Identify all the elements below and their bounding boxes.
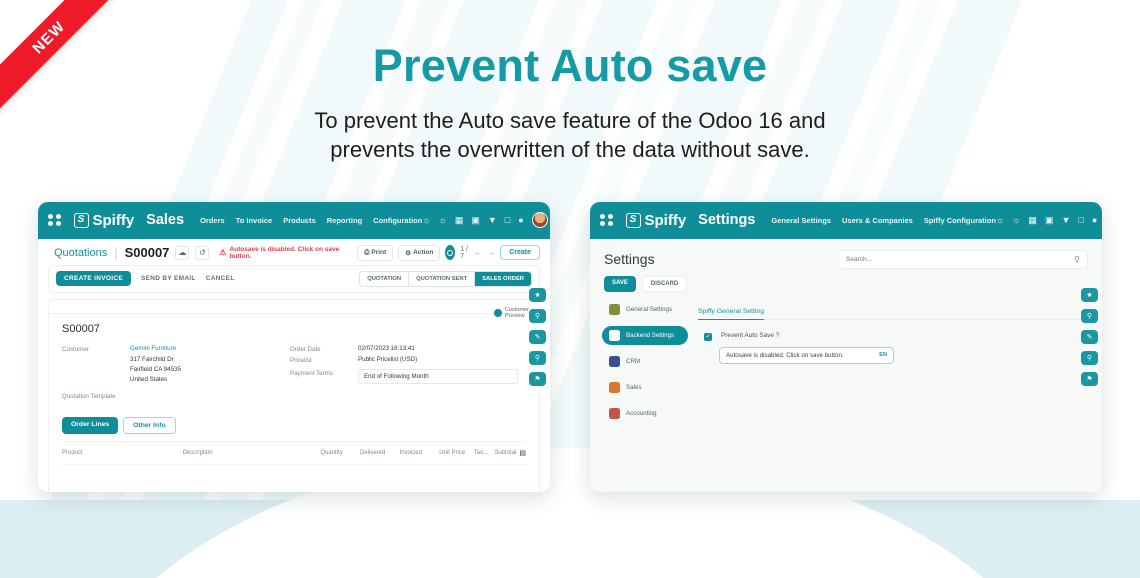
brand-logo[interactable]: S Spiffy (626, 212, 687, 229)
messages-icon[interactable]: ☼ (422, 216, 430, 225)
sheet-notebook-tabs: Order Lines Other Info (62, 417, 526, 434)
customer-preview-line-1: Customer (505, 307, 529, 313)
spiffy-s-icon (609, 330, 620, 341)
brand-logo[interactable]: S Spiffy (74, 212, 135, 229)
field-pricelist: Pricelist Public Pricelist (USD) (290, 356, 526, 364)
field-label-payment-terms: Payment Terms (290, 369, 358, 384)
settings-sidebar: General Settings Backend Settings CRM Sa… (590, 300, 688, 423)
autosave-warning: ⚠ Autosave is disabled. Click on save bu… (219, 246, 351, 260)
menu-item-spiffy-configuration[interactable]: Spiffy Configuration (924, 216, 996, 225)
arrow-right-icon[interactable]: → (487, 248, 495, 257)
print-icon[interactable]: ▦ (1028, 216, 1037, 225)
sales-navbar: S Spiffy Sales Orders To Invoice Product… (38, 202, 550, 239)
menu-item-users-companies[interactable]: Users & Companies (842, 216, 913, 225)
messages-icon[interactable]: ☼ (996, 216, 1004, 225)
user-avatar[interactable] (532, 212, 548, 228)
gear-icon: ⚙ (405, 249, 411, 257)
record-pager: 1 / 7 (460, 246, 469, 260)
field-value-pricelist[interactable]: Public Pricelist (USD) (358, 356, 417, 364)
activities-icon[interactable]: ☼ (439, 216, 447, 225)
field-customer: Customer Gemini Furniture (62, 345, 290, 353)
stage-selector: QUOTATION QUOTATION SENT SALES ORDER (359, 271, 532, 287)
form-left-column: Customer Gemini Furniture 317 Fairchild … (62, 345, 290, 403)
order-lines-empty-body (62, 464, 526, 492)
column-header-quantity: Quantity (320, 450, 360, 456)
autosave-message-input[interactable]: Autosave is disabled. Click on save butt… (719, 347, 894, 364)
field-payment-terms: Payment Terms End of Following Month (290, 369, 526, 384)
customer-preview-label: Customer Preview (505, 307, 529, 321)
field-value-country: United States (130, 376, 167, 383)
stage-quotation-sent[interactable]: QUOTATION SENT (409, 272, 475, 286)
field-order-date: Order Date 02/07/2023 16:13:41 (290, 345, 526, 353)
create-button[interactable]: Create (500, 245, 540, 260)
language-badge[interactable]: EN (879, 352, 887, 358)
settings-action-buttons: SAVE DISCARD (590, 269, 1102, 300)
location-icon[interactable]: ● (1092, 216, 1097, 225)
checkbox-checked-icon[interactable]: ✓ (704, 333, 712, 341)
app-name-label: Settings (698, 212, 755, 228)
tab-other-info[interactable]: Other Info (123, 417, 175, 434)
field-address-line-2: Fairfield CA 94535 (62, 366, 290, 373)
field-label-order-date: Order Date (290, 345, 358, 353)
column-header-taxes: Tax... (474, 450, 495, 456)
sales-icon (609, 382, 620, 393)
field-label-customer: Customer (62, 345, 130, 353)
order-lines-table-header: Product Description Quantity Delivered I… (62, 441, 526, 464)
search-icon[interactable]: ⚲ (1074, 255, 1080, 264)
settings-main: General Settings Backend Settings CRM Sa… (590, 300, 1102, 423)
screenshot-row: S Spiffy Sales Orders To Invoice Product… (0, 202, 1140, 492)
sidebar-label-general-settings: General Settings (626, 306, 672, 313)
send-by-email-button[interactable]: SEND BY EMAIL (141, 275, 196, 282)
field-label-quotation-template: Quotation Template (62, 392, 116, 400)
customer-preview-button[interactable]: Customer Preview (494, 307, 529, 321)
bug-icon[interactable]: ▼ (488, 216, 497, 225)
menu-item-to-invoice[interactable]: To Invoice (236, 216, 273, 225)
search-icon[interactable]: ⚲ (529, 309, 546, 323)
bookmark-icon[interactable]: ⚑ (529, 372, 546, 386)
settings-menu-bar: General Settings Users & Companies Spiff… (771, 216, 996, 225)
sidebar-item-sales[interactable]: Sales (602, 378, 688, 397)
field-value-city: Fairfield CA 94535 (130, 366, 181, 373)
sidebar-label-accounting: Accounting (626, 410, 657, 417)
stage-sales-order[interactable]: SALES ORDER (475, 272, 531, 286)
brand-label: Spiffy (645, 212, 687, 229)
field-address-line-3: United States (62, 376, 290, 383)
save-cloud-icon[interactable]: ☁ (175, 246, 189, 260)
settings-side-toolbar: ★ ⚲ ✎ ⚲ ⚑ (1081, 288, 1098, 386)
field-label-pricelist: Pricelist (290, 356, 358, 364)
column-header-unit-price: Unit Price (439, 450, 473, 456)
breadcrumb-current: S00007 (125, 245, 170, 260)
search-icon[interactable]: ⚲ (1081, 309, 1098, 323)
customer-preview-line-2: Preview (505, 313, 525, 319)
globe-icon (494, 309, 502, 317)
note-icon[interactable]: □ (1078, 216, 1083, 225)
bug-icon[interactable]: ▼ (1061, 216, 1070, 225)
sidebar-label-sales: Sales (626, 384, 641, 391)
new-ribbon: NEW (0, 0, 150, 150)
column-header-subtotal: Subtotal (494, 450, 516, 456)
field-label-blank-1 (62, 356, 130, 363)
brand-label: Spiffy (93, 212, 135, 229)
form-fields: Customer Gemini Furniture 317 Fairchild … (62, 345, 526, 403)
settings-header: Settings ⚲ (590, 239, 1102, 269)
print-button[interactable]: ⎙ Print (357, 245, 393, 261)
record-title: S00007 (62, 323, 526, 335)
page-subtitle: To prevent the Auto save feature of the … (0, 106, 1140, 165)
search-input[interactable] (846, 256, 1070, 263)
sidebar-label-crm: CRM (626, 358, 640, 365)
control-panel-actions: ⎙ Print ⚙ Action 1 / 7 ← → Create (357, 245, 540, 261)
field-quotation-template: Quotation Template (62, 392, 290, 400)
sidebar-item-crm[interactable]: CRM (602, 352, 688, 371)
edit-pencil-icon[interactable]: ✎ (529, 330, 546, 344)
field-label-blank-2 (62, 366, 130, 373)
prevent-auto-save-label: Prevent Auto Save ? (721, 332, 779, 339)
tab-order-lines[interactable]: Order Lines (62, 417, 118, 434)
menu-item-configuration[interactable]: Configuration (373, 216, 422, 225)
column-header-subtotal-group: Subtotal ▤ (494, 449, 526, 457)
headline-block: Prevent Auto save To prevent the Auto sa… (0, 0, 1140, 165)
section-tab-spiffy-general-setting[interactable]: Spiffy General Setting (698, 308, 764, 320)
menu-item-general-settings[interactable]: General Settings (771, 216, 831, 225)
bookmark-icon[interactable]: ⚑ (1081, 372, 1098, 386)
sales-control-panel: Quotations | S00007 ☁ ↺ ⚠ Autosave is di… (38, 239, 550, 265)
print-label: Print (371, 249, 386, 256)
settings-title: Settings (604, 251, 655, 267)
autosave-warning-text: Autosave is disabled. Click on save butt… (229, 246, 351, 260)
warning-triangle-icon: ⚠ (219, 248, 226, 257)
new-ribbon-label: NEW (0, 0, 134, 123)
navbar-systray: ☼ ☼ ▦ ▣ ▼ □ ● (996, 212, 1102, 228)
action-button[interactable]: ⚙ Action (398, 245, 440, 261)
subtitle-line-2: prevents the overwritten of the data wit… (0, 135, 1140, 164)
cancel-button[interactable]: CANCEL (206, 275, 235, 282)
field-value-street: 317 Fairchild Dr (130, 356, 174, 363)
grid-apps-icon[interactable] (48, 214, 61, 227)
sales-app-screenshot: S Spiffy Sales Orders To Invoice Product… (38, 202, 550, 492)
navbar-systray: ☼ ☼ ▦ ▣ ▼ □ ● (422, 212, 547, 228)
column-header-product: Product (62, 450, 183, 456)
sales-statusbar: CREATE INVOICE SEND BY EMAIL CANCEL QUOT… (48, 265, 540, 293)
payment-terms-input[interactable]: End of Following Month (358, 369, 518, 384)
settings-content: Spiffy General Setting ✓ Prevent Auto Sa… (688, 300, 1102, 423)
menu-item-orders[interactable]: Orders (200, 216, 225, 225)
settings-app-screenshot: S Spiffy Settings General Settings Users… (590, 202, 1102, 492)
autosave-message-value: Autosave is disabled. Click on save butt… (726, 352, 879, 359)
breadcrumb-separator: | (114, 245, 117, 260)
spiffy-s-icon: S (626, 213, 641, 228)
sidebar-item-general-settings[interactable]: General Settings (602, 300, 688, 319)
form-right-column: Order Date 02/07/2023 16:13:41 Pricelist… (290, 345, 526, 403)
star-icon[interactable]: ★ (1081, 288, 1098, 302)
quotation-form-sheet: Customer Preview S00007 Customer Gemini … (48, 299, 540, 492)
gallery-icon[interactable]: ▣ (1045, 216, 1054, 225)
column-header-description: Description (183, 450, 321, 456)
stage-quotation[interactable]: QUOTATION (360, 272, 409, 286)
accounting-icon (609, 408, 620, 419)
general-settings-icon (609, 304, 620, 315)
discard-undo-icon[interactable]: ↺ (195, 246, 209, 260)
activities-icon[interactable]: ☼ (1012, 216, 1020, 225)
discard-button[interactable]: DISCARD (642, 276, 687, 292)
create-invoice-button[interactable]: CREATE INVOICE (56, 271, 131, 286)
field-value-customer[interactable]: Gemini Furniture (130, 345, 176, 353)
star-icon[interactable]: ★ (529, 288, 546, 302)
column-header-invoiced: Invoiced (400, 450, 440, 456)
sales-side-toolbar: ★ ⚲ ✎ ⚲ ⚑ (529, 288, 546, 386)
column-header-delivered: Delivered (360, 450, 400, 456)
save-button[interactable]: SAVE (604, 276, 636, 292)
breadcrumb-root[interactable]: Quotations (54, 247, 107, 259)
field-address-line-1: 317 Fairchild Dr (62, 356, 290, 363)
grid-apps-icon[interactable] (600, 214, 613, 227)
menu-item-products[interactable]: Products (283, 216, 316, 225)
action-label: Action (413, 249, 433, 256)
note-icon[interactable]: □ (505, 216, 510, 225)
sidebar-item-backend-settings[interactable]: Backend Settings (602, 326, 688, 345)
arrow-left-icon[interactable]: ← (474, 248, 482, 257)
sidebar-item-accounting[interactable]: Accounting (602, 404, 688, 423)
field-label-blank-3 (62, 376, 130, 383)
settings-search-box[interactable]: ⚲ (838, 250, 1088, 269)
magnifier-icon[interactable]: ⚲ (1081, 351, 1098, 365)
location-icon[interactable]: ● (518, 216, 523, 225)
settings-body: Settings ⚲ SAVE DISCARD General Settings (590, 239, 1102, 492)
sheet-divider (49, 313, 539, 314)
spinner-icon[interactable] (445, 245, 455, 260)
column-settings-icon[interactable]: ▤ (519, 449, 526, 457)
sidebar-label-backend-settings: Backend Settings (626, 332, 674, 339)
gallery-icon[interactable]: ▣ (471, 216, 480, 225)
menu-item-reporting[interactable]: Reporting (327, 216, 362, 225)
app-name-label: Sales (146, 212, 184, 228)
prevent-auto-save-option: ✓ Prevent Auto Save ? (698, 320, 1084, 341)
crm-icon (609, 356, 620, 367)
spiffy-s-icon: S (74, 213, 89, 228)
page-title: Prevent Auto save (0, 40, 1140, 92)
edit-pencil-icon[interactable]: ✎ (1081, 330, 1098, 344)
print-icon[interactable]: ▦ (455, 216, 464, 225)
sales-menu-bar: Orders To Invoice Products Reporting Con… (200, 216, 422, 225)
print-icon: ⎙ (364, 249, 369, 257)
settings-navbar: S Spiffy Settings General Settings Users… (590, 202, 1102, 239)
subtitle-line-1: To prevent the Auto save feature of the … (0, 106, 1140, 135)
field-value-order-date[interactable]: 02/07/2023 16:13:41 (358, 345, 415, 353)
magnifier-icon[interactable]: ⚲ (529, 351, 546, 365)
